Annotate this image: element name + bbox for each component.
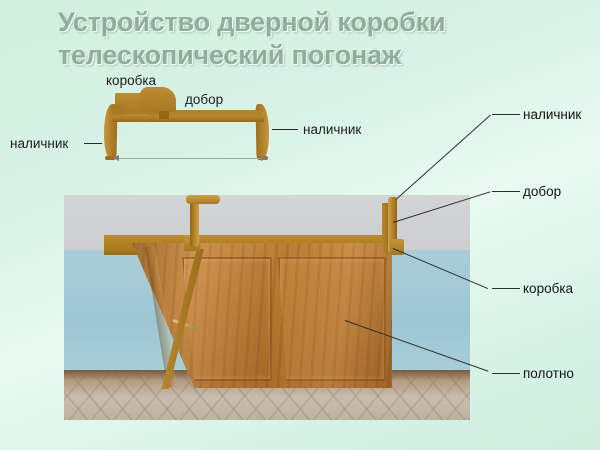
label-korobka-top: коробка <box>106 73 156 88</box>
jamb-left-top-cap <box>186 195 220 204</box>
title-line-1: Устройство дверной коробки <box>58 7 445 37</box>
page-title: Устройство дверной коробки телескопическ… <box>58 6 558 72</box>
dimension-arrow-left-icon <box>113 155 119 161</box>
callout-polotno: полотно <box>523 366 574 381</box>
callout-nalichnik: наличник <box>523 107 581 122</box>
profile-cross-section-diagram: коробка добор наличник наличник <box>0 70 600 180</box>
profile-dimension-line <box>114 158 266 159</box>
door-panel-right <box>278 257 386 381</box>
profile-frame-lip-shape <box>112 105 124 115</box>
profile-frame-notch-shape <box>159 111 169 119</box>
label-dobor-top: добор <box>185 92 223 107</box>
title-line-2: телескопический погонаж <box>58 39 558 72</box>
callout-polotno-line-h <box>492 373 520 374</box>
callout-korobka: коробка <box>523 281 573 296</box>
leader-nalichnik-left <box>84 143 102 144</box>
label-nalichnik-right: наличник <box>303 122 361 137</box>
callout-nalichnik-line-h <box>492 114 520 115</box>
profile-frame-nose-shape <box>140 87 176 112</box>
label-nalichnik-left: наличник <box>10 136 68 151</box>
infographic-canvas: Устройство дверной коробки телескопическ… <box>0 0 600 450</box>
callout-dobor: добор <box>523 184 561 199</box>
callout-dobor-line-h <box>492 191 520 192</box>
door-installation-photo <box>64 195 470 420</box>
leader-nalichnik-right <box>272 129 298 130</box>
dimension-arrow-right-icon <box>261 155 267 161</box>
callout-korobka-line-h <box>492 288 520 289</box>
